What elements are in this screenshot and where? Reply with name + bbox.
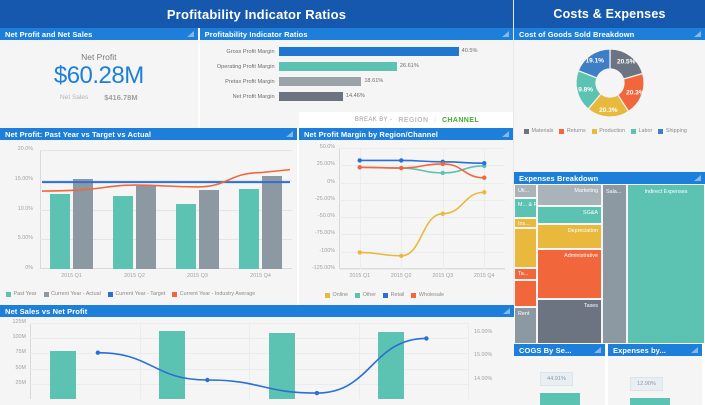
- donut-slice-label: 19.1%: [586, 58, 605, 65]
- ratio-track: 18.61%: [279, 77, 509, 86]
- treemap-cell[interactable]: Ta...: [514, 268, 537, 280]
- margin-column: BREAK BY - REGION | CHANNEL Net Profit M…: [299, 128, 513, 305]
- legend-item[interactable]: Wholesale: [411, 292, 444, 298]
- donut-slice-label: 20.3%: [599, 107, 618, 114]
- ratio-bar[interactable]: [279, 62, 397, 71]
- legend-swatch: [658, 129, 663, 134]
- legend-label: Past Year: [14, 291, 37, 297]
- breakby-option-channel[interactable]: CHANNEL: [442, 117, 479, 124]
- legend-item[interactable]: Current Year - Actual: [44, 291, 101, 297]
- legend-swatch: [325, 293, 330, 298]
- kpi-panel-header-label: Net Profit and Net Sales: [5, 30, 92, 39]
- expenses-panel-header: Expenses Breakdown: [514, 172, 705, 184]
- donut-slice-label: 20.3%: [626, 89, 645, 96]
- ratio-row: Net Profit Margin14.46%: [202, 91, 509, 102]
- margin-panel-header: Net Profit Margin by Region/Channel: [299, 128, 513, 140]
- legend-label: Current Year - Industry Average: [180, 291, 255, 297]
- cogs-by-segment-header-label: COGS By Se...: [519, 346, 572, 355]
- kpi-value: $60.28M: [54, 63, 144, 88]
- treemap-cell[interactable]: Administrative: [537, 249, 602, 299]
- legend-swatch: [383, 293, 388, 298]
- donut-svg: 20.5%20.3%20.3%19.8%19.1%: [514, 40, 705, 126]
- legend-item[interactable]: Current Year - Industry Average: [172, 291, 255, 297]
- expenses-by-header: Expenses by...: [608, 344, 702, 356]
- ratio-label: Operating Profit Margin: [202, 64, 279, 70]
- expenses-by-panel: Expenses by... 12.90%: [608, 344, 702, 405]
- panel-menu-icon[interactable]: [187, 31, 194, 37]
- ratio-value: 18.61%: [364, 77, 383, 86]
- mid-row: Net Profit: Past Year vs Target vs Actua…: [0, 128, 513, 305]
- legend-item[interactable]: Past Year: [6, 291, 37, 297]
- cogs-panel-header: Cost of Goods Sold Breakdown: [514, 28, 705, 40]
- ratios-bar-chart: Gross Profit Margin40.5%Operating Profit…: [200, 40, 513, 110]
- panel-menu-icon[interactable]: [286, 131, 293, 137]
- treemap-cell[interactable]: Uti...: [514, 184, 537, 198]
- sales-panel-header-label: Net Sales vs Net Profit: [5, 307, 87, 316]
- legend-swatch: [44, 292, 49, 297]
- treemap-cell-label: Administrative: [564, 253, 598, 259]
- treemap-cell[interactable]: [514, 280, 537, 307]
- legend-swatch: [172, 292, 177, 297]
- sales-panel: Net Sales vs Net Profit 25M50M75M100M125…: [0, 305, 514, 405]
- treemap-cell-label: Uti...: [518, 188, 529, 194]
- ratio-value: 26.61%: [400, 62, 419, 71]
- legend-label: Online: [333, 292, 349, 298]
- cogs-by-segment-value: 44.91%: [540, 372, 573, 386]
- netprofit-chart: 0%5.00%10.0%15.00%20.0%2015 Q12015 Q2201…: [0, 140, 297, 305]
- treemap-cell[interactable]: Indirect Expenses: [627, 184, 705, 344]
- panel-menu-icon[interactable]: [502, 131, 509, 137]
- treemap-cell-label: M... & Re...: [518, 202, 537, 208]
- ratio-bar[interactable]: [279, 47, 459, 56]
- legend-swatch: [355, 293, 360, 298]
- treemap-cell-label: Marketing: [574, 188, 598, 194]
- ratio-value: 14.46%: [346, 92, 365, 101]
- legend-swatch: [592, 129, 597, 134]
- ratio-label: Pretax Profit Margin: [202, 79, 279, 85]
- panel-menu-icon[interactable]: [503, 308, 510, 314]
- netprofit-legend: Past YearCurrent Year - ActualCurrent Ye…: [6, 291, 255, 297]
- treemap-cell[interactable]: Depreciation: [537, 224, 602, 249]
- legend-label: Materials: [532, 128, 554, 134]
- donut-slice-label: 19.8%: [575, 87, 594, 94]
- legend-label: Retail: [391, 292, 405, 298]
- treemap-cell-label: Ta...: [518, 271, 528, 277]
- ratio-track: 26.61%: [279, 62, 509, 71]
- left-section-title: Profitability Indicator Ratios: [0, 0, 513, 28]
- treemap-cell-label: Rent: [518, 311, 529, 317]
- legend-item[interactable]: Labor: [631, 128, 652, 134]
- legend-label: Other: [363, 292, 376, 298]
- netprofit-panel-header: Net Profit: Past Year vs Target vs Actua…: [0, 128, 297, 140]
- legend-label: Returns: [567, 128, 586, 134]
- ratio-value: 40.5%: [462, 47, 478, 56]
- sales-chart: 25M50M75M100M125M14.00%15.00%16.00%: [0, 317, 514, 405]
- sales-panel-header: Net Sales vs Net Profit: [0, 305, 514, 317]
- kpi-body: Net Profit $60.28M Net Sales $416.78M: [0, 40, 198, 114]
- legend-item[interactable]: Shipping: [658, 128, 686, 134]
- cogs-legend: MaterialsReturnsProductionLaborShipping: [514, 126, 705, 138]
- legend-item[interactable]: Other: [355, 292, 376, 298]
- treemap-cell[interactable]: Ins...: [514, 218, 537, 228]
- legend-item[interactable]: Current Year - Target: [108, 291, 165, 297]
- left-column: Profitability Indicator Ratios Net Profi…: [0, 0, 514, 405]
- treemap-cell[interactable]: Rent: [514, 307, 537, 344]
- ratio-row: Gross Profit Margin40.5%: [202, 46, 509, 57]
- margin-panel-header-label: Net Profit Margin by Region/Channel: [304, 130, 438, 139]
- kpi-subrow: Net Sales $416.78M: [60, 93, 138, 102]
- margin-panel: Net Profit Margin by Region/Channel 50.0…: [299, 128, 513, 305]
- expenses-by-bar: [630, 398, 670, 405]
- kpi-panel-header: Net Profit and Net Sales: [0, 28, 198, 40]
- legend-item[interactable]: Production: [592, 128, 625, 134]
- ratio-label: Net Profit Margin: [202, 94, 279, 100]
- treemap-cell-label: SG&A: [583, 210, 598, 216]
- panel-menu-icon[interactable]: [694, 175, 701, 181]
- treemap-cell[interactable]: [514, 228, 537, 268]
- kpi-sub-value: $416.78M: [104, 93, 137, 102]
- kpi-label: Net Profit: [81, 52, 116, 62]
- breakby-option-region[interactable]: REGION: [398, 117, 428, 124]
- netprofit-panel: Net Profit: Past Year vs Target vs Actua…: [0, 128, 299, 305]
- legend-swatch: [108, 292, 113, 297]
- treemap-cell[interactable]: Taxes: [537, 299, 602, 344]
- treemap-cell[interactable]: SG&A: [537, 206, 602, 224]
- ratio-label: Gross Profit Margin: [202, 49, 279, 55]
- margin-legend: OnlineOtherRetailWholesale: [325, 292, 444, 298]
- expenses-treemap: Indirect ExpensesSala...MarketingSG&ADep…: [514, 184, 705, 344]
- panel-menu-icon[interactable]: [502, 31, 509, 37]
- panel-menu-icon[interactable]: [694, 31, 701, 37]
- ratios-panel-header-label: Profitability Indicator Ratios: [205, 30, 308, 39]
- legend-item[interactable]: Online: [325, 292, 348, 298]
- treemap-cell-label: Depreciation: [568, 228, 598, 234]
- mini-row: COGS By Se... 44.91% Expenses by... 12.9…: [514, 344, 705, 405]
- right-column: Costs & Expenses Cost of Goods Sold Brea…: [514, 0, 705, 405]
- treemap-cell-label: Indirect Expenses: [628, 189, 704, 195]
- cogs-donut-chart: 20.5%20.3%20.3%19.8%19.1%: [514, 40, 705, 126]
- margin-lines: [299, 140, 513, 305]
- margin-chart: 50.0%25.00%0%-25.00%-50.0%-75.00%-100%-1…: [299, 140, 513, 305]
- treemap-cell[interactable]: Sala...: [602, 184, 627, 344]
- expenses-by-value: 12.90%: [630, 377, 663, 391]
- kpi-panel: Net Profit and Net Sales Net Profit $60.…: [0, 28, 200, 128]
- ratio-track: 14.46%: [279, 92, 509, 101]
- legend-label: Current Year - Actual: [51, 291, 101, 297]
- right-section-title: Costs & Expenses: [514, 0, 705, 28]
- cogs-panel: Cost of Goods Sold Breakdown 20.5%20.3%2…: [514, 28, 705, 172]
- legend-label: Production: [599, 128, 625, 134]
- dashboard-root: Profitability Indicator Ratios Net Profi…: [0, 0, 705, 405]
- legend-label: Current Year - Target: [115, 291, 165, 297]
- legend-label: Labor: [639, 128, 653, 134]
- legend-swatch: [559, 129, 564, 134]
- cogs-by-segment-panel: COGS By Se... 44.91%: [514, 344, 608, 405]
- donut-slice-label: 20.5%: [617, 58, 636, 65]
- ratio-track: 40.5%: [279, 47, 509, 56]
- cogs-by-segment-bar: [540, 393, 580, 405]
- sales-line: [0, 317, 514, 405]
- expenses-panel: Expenses Breakdown Indirect ExpensesSala…: [514, 172, 705, 344]
- legend-swatch: [6, 292, 11, 297]
- ratio-bar[interactable]: [279, 77, 362, 86]
- legend-label: Wholesale: [419, 292, 444, 298]
- treemap-cell[interactable]: M... & Re...: [514, 198, 537, 218]
- legend-swatch: [524, 129, 529, 134]
- cogs-panel-header-label: Cost of Goods Sold Breakdown: [519, 30, 634, 39]
- treemap-cell[interactable]: Marketing: [537, 184, 602, 206]
- breakby-toggle: BREAK BY - REGION | CHANNEL: [299, 112, 513, 128]
- ratios-panel-header: Profitability Indicator Ratios: [200, 28, 513, 40]
- expenses-panel-header-label: Expenses Breakdown: [519, 174, 598, 183]
- ratio-bar[interactable]: [279, 92, 343, 101]
- treemap-cell-label: Sala...: [606, 189, 621, 195]
- legend-swatch: [411, 293, 416, 298]
- legend-label: Shipping: [666, 128, 687, 134]
- netprofit-lines: [0, 140, 299, 305]
- panel-menu-icon[interactable]: [594, 347, 601, 353]
- panel-menu-icon[interactable]: [691, 347, 698, 353]
- cogs-by-segment-header: COGS By Se...: [514, 344, 605, 356]
- legend-item[interactable]: Returns: [559, 128, 585, 134]
- legend-item[interactable]: Materials: [524, 128, 553, 134]
- treemap-cell-label: Taxes: [584, 303, 598, 309]
- legend-swatch: [631, 129, 636, 134]
- legend-item[interactable]: Retail: [383, 292, 404, 298]
- breakby-label: BREAK BY -: [355, 117, 393, 123]
- kpi-sub-label: Net Sales: [60, 94, 88, 101]
- breakby-divider: |: [434, 117, 436, 123]
- netprofit-panel-header-label: Net Profit: Past Year vs Target vs Actua…: [5, 130, 151, 139]
- expenses-by-header-label: Expenses by...: [613, 346, 666, 355]
- treemap-cell-label: Ins...: [518, 221, 530, 227]
- ratio-row: Pretax Profit Margin18.61%: [202, 76, 509, 87]
- ratio-row: Operating Profit Margin26.61%: [202, 61, 509, 72]
